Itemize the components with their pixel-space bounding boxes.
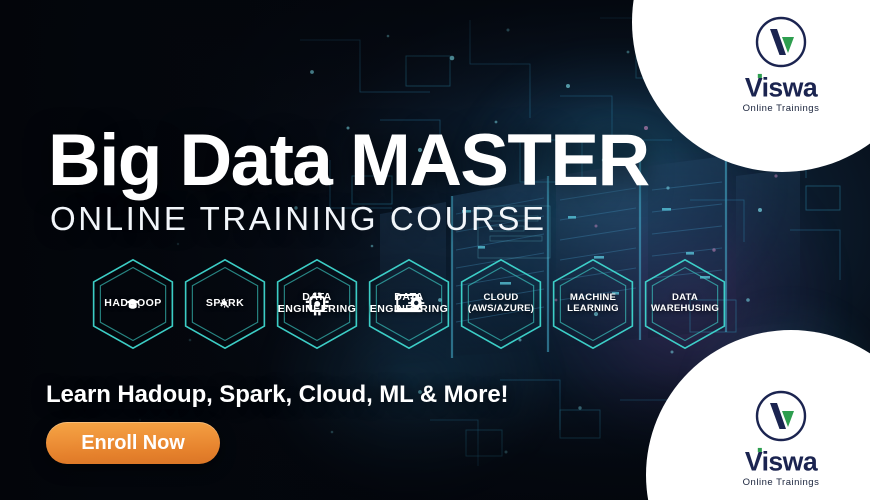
viswa-wordmark-icon: Viswa — [723, 446, 839, 480]
badge-label: DATA WAREHUSING — [651, 293, 719, 315]
viswa-logo-mark-icon — [753, 388, 809, 444]
badge-label: MACHINE LEARNING — [567, 293, 619, 315]
badge-label: CLOUD (AWS/AZURE) — [468, 293, 534, 315]
page-title: Big Data MASTER — [48, 126, 649, 197]
laptop-gear-icon — [364, 292, 454, 316]
logo-subtitle: Online Trainings — [706, 477, 856, 488]
svg-text:Viswa: Viswa — [745, 73, 818, 103]
badge-hadooop[interactable]: HADOOOP — [84, 256, 182, 352]
spark-burst-icon — [200, 298, 250, 310]
enroll-now-button[interactable]: Enroll Now — [46, 422, 220, 464]
headline-part-1: Big Data — [48, 120, 350, 201]
footer-tagline: Learn Hadoup, Spark, Cloud, ML & More! — [46, 381, 508, 409]
graduation-cap-icon — [98, 298, 167, 310]
viswa-logo-mark-icon — [753, 14, 809, 70]
badge-row: HADOOOP — [84, 256, 728, 352]
logo-top-right[interactable]: Viswa Online Trainings — [706, 14, 856, 114]
promo-banner: Viswa Online Trainings Viswa Online Trai… — [0, 0, 870, 500]
badge-spark[interactable]: SPARK — [176, 256, 274, 352]
badge-data-engineering-1[interactable]: DATA ENGINEERING — [268, 256, 366, 352]
badge-machine-learning[interactable]: MACHINE LEARNING — [544, 256, 642, 352]
viswa-wordmark-icon: Viswa — [723, 72, 839, 106]
badge-data-engineering-2[interactable]: DATA ENGINEERING — [360, 256, 458, 352]
svg-text:Viswa: Viswa — [745, 447, 818, 477]
badge-cloud[interactable]: CLOUD (AWS/AZURE) — [452, 256, 550, 352]
logo-subtitle: Online Trainings — [706, 103, 856, 114]
processor-chip-icon — [272, 292, 362, 316]
headline-part-2: MASTER — [350, 120, 649, 201]
badge-data-warehousing[interactable]: DATA WAREHUSING — [636, 256, 734, 352]
page-subtitle: ONLINE TRAINING COURSE — [50, 200, 547, 238]
logo-bottom-right[interactable]: Viswa Online Trainings — [706, 388, 856, 488]
